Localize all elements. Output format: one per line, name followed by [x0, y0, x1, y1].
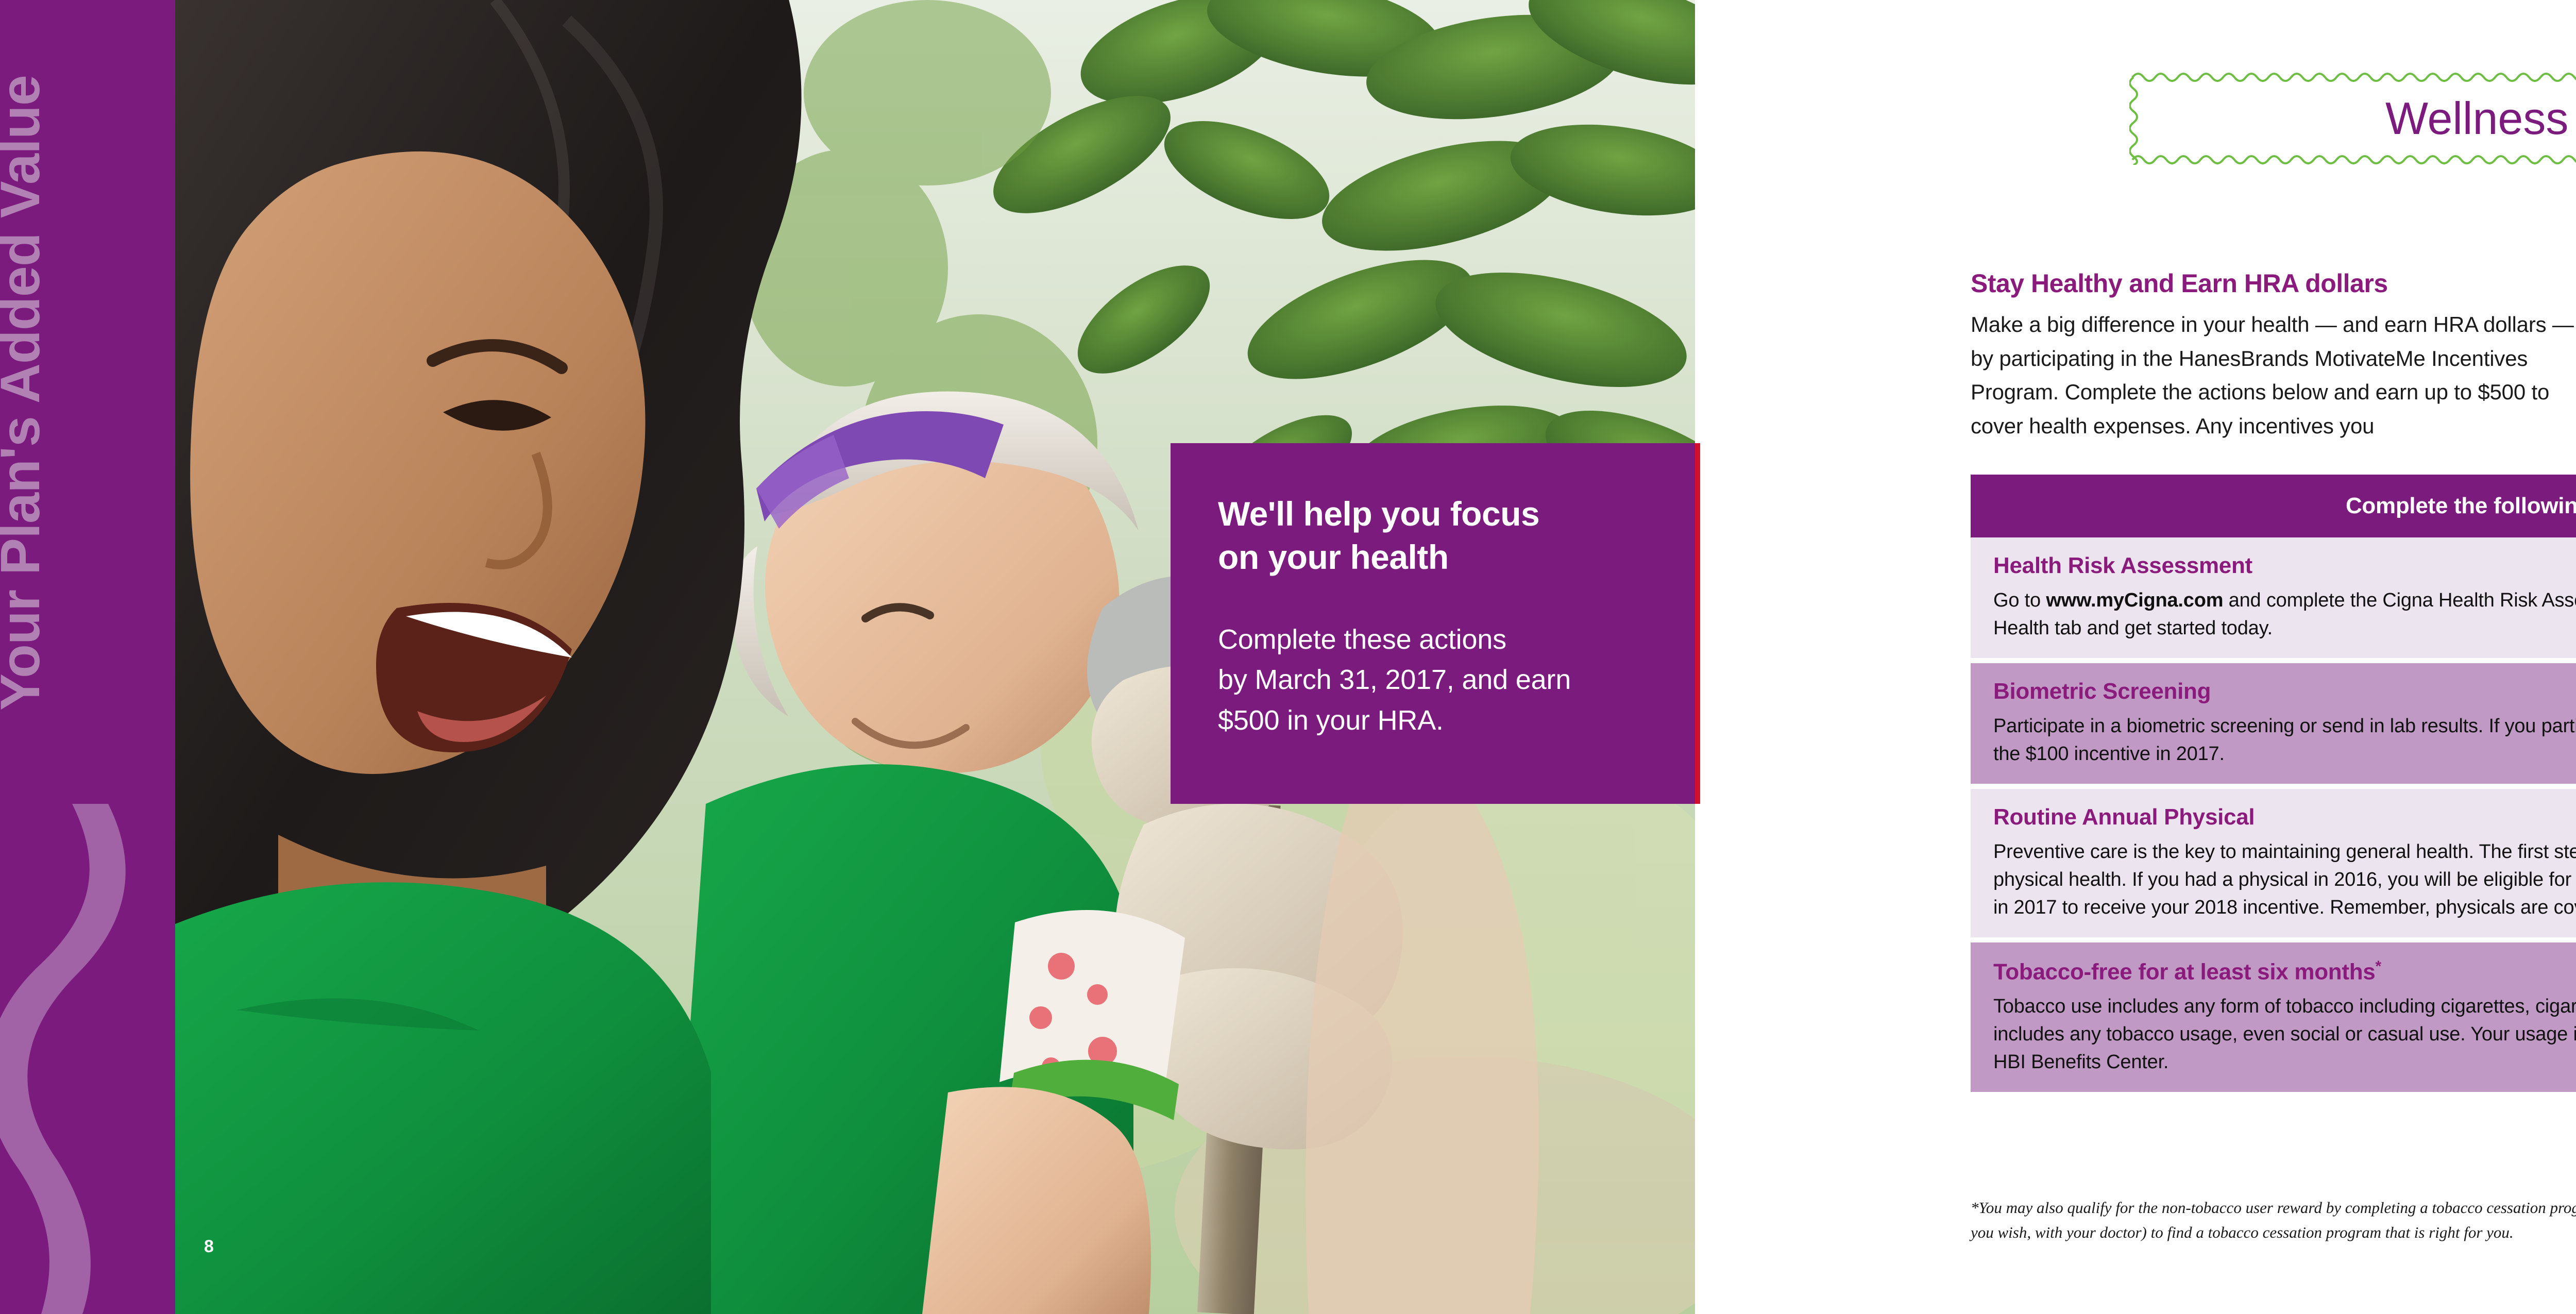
incentives-table: Complete the following actions by March …	[1971, 475, 2576, 1092]
footnote: *You may also qualify for the non-tobacc…	[1971, 1195, 2576, 1245]
table-header: Complete the following actions by March …	[1971, 475, 2576, 537]
cigna-website-link[interactable]: www.myCigna.com	[2046, 589, 2223, 611]
table-row: Routine Annual PhysicalPreventive care i…	[1971, 789, 2576, 937]
sidebar-title: Your Plan's Added Value	[0, 68, 107, 872]
swoosh-decoration	[0, 804, 175, 1314]
row-divider	[1971, 937, 2576, 942]
title-frame: Wellness Incentives	[2129, 72, 2576, 165]
table-row-title: Tobacco-free for at least six months*	[1993, 958, 2576, 985]
table-row-title: Health Risk Assessment	[1993, 553, 2576, 579]
table-row-body: Preventive care is the key to maintainin…	[1993, 838, 2576, 922]
table-row: Tobacco-free for at least six months*Tob…	[1971, 942, 2576, 1092]
table-row-body: Participate in a biometric screening or …	[1993, 713, 2576, 768]
intro-column-left: Make a big difference in your health — a…	[1971, 308, 2576, 443]
intro-copy: Make a big difference in your health — a…	[1971, 308, 2576, 443]
table-row: Health Risk AssessmentGo to www.myCigna.…	[1971, 537, 2576, 658]
table-cell-description: Tobacco-free for at least six months*Tob…	[1971, 942, 2576, 1092]
table-cell-description: Biometric ScreeningParticipate in a biom…	[1971, 663, 2576, 784]
table-row-title: Routine Annual Physical	[1993, 804, 2576, 830]
table-cell-description: Routine Annual PhysicalPreventive care i…	[1971, 789, 2576, 937]
callout-title: We'll help you focus on your health	[1218, 493, 1695, 579]
section-heading: Stay Healthy and Earn HRA dollars	[1971, 268, 2388, 298]
right-page: Wellness Incentives Stay Healthy and Ear…	[1700, 0, 2576, 1314]
table-row-title: Biometric Screening	[1993, 679, 2576, 704]
red-accent-block	[1695, 443, 1700, 804]
left-page: Your Plan's Added Value 8 We'll help you…	[0, 0, 1700, 1314]
callout-box: We'll help you focus on your health Comp…	[1171, 443, 1695, 804]
footnote-marker: *	[2375, 958, 2381, 975]
table-row-body: Tobacco use includes any form of tobacco…	[1993, 993, 2576, 1076]
row-divider	[1971, 784, 2576, 789]
table-row-body: Go to www.myCigna.com and complete the C…	[1993, 587, 2576, 643]
table-cell-description: Health Risk AssessmentGo to www.myCigna.…	[1971, 537, 2576, 658]
page-number-left: 8	[204, 1237, 214, 1257]
callout-body: Complete these actions by March 31, 2017…	[1218, 619, 1695, 741]
row-divider	[1971, 658, 2576, 663]
table-row: Biometric ScreeningParticipate in a biom…	[1971, 663, 2576, 784]
page-title: Wellness Incentives	[2129, 72, 2576, 165]
sidebar: Your Plan's Added Value	[0, 0, 175, 1314]
table-body: Health Risk AssessmentGo to www.myCigna.…	[1971, 537, 2576, 1092]
